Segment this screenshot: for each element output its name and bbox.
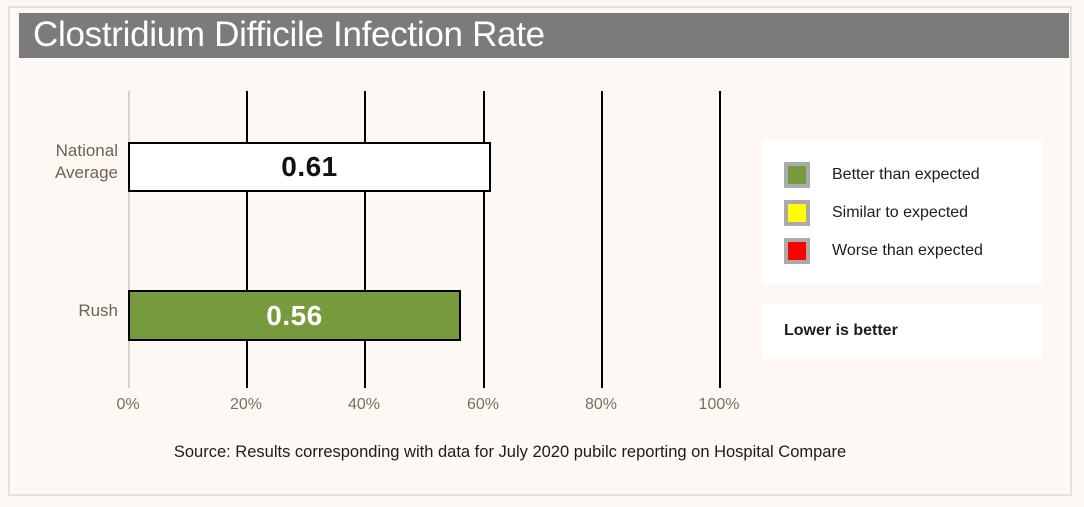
legend-label: Worse than expected: [832, 242, 983, 260]
legend-item-similar-to-expected: Similar to expected: [784, 194, 1042, 232]
gridline-80: [601, 91, 603, 388]
gridline-60: [483, 91, 485, 388]
bar-value-label: 0.61: [281, 151, 338, 183]
title-banner: Clostridium Difficile Infection Rate: [19, 13, 1069, 58]
x-axis-tick-labels: 0% 20% 40% 60% 80% 100%: [128, 396, 720, 420]
x-tick-60: 60%: [467, 396, 499, 414]
bar-value-label: 0.56: [266, 300, 323, 332]
category-label-line1: National: [56, 141, 118, 160]
legend-item-worse-than-expected: Worse than expected: [784, 232, 1042, 270]
legend-item-better-than-expected: Better than expected: [784, 156, 1042, 194]
plot-area: 0.61 0.56: [128, 91, 720, 388]
x-tick-0: 0%: [116, 396, 139, 414]
bar-national-average[interactable]: 0.61: [128, 142, 491, 192]
category-label-national-average: National Average: [18, 140, 118, 184]
bar-rush[interactable]: 0.56: [128, 290, 461, 341]
gridline-0: [128, 91, 130, 388]
legend-swatch-red-icon: [784, 238, 810, 264]
legend-swatch-yellow-icon: [784, 200, 810, 226]
category-label-line1: Rush: [78, 301, 118, 320]
interpretation-note-text: Lower is better: [784, 322, 898, 340]
interpretation-note-box: Lower is better: [762, 303, 1042, 359]
category-label-line2: Average: [55, 163, 118, 182]
x-tick-40: 40%: [348, 396, 380, 414]
gridline-100: [719, 91, 721, 388]
x-tick-20: 20%: [230, 396, 262, 414]
category-label-rush: Rush: [18, 300, 118, 322]
legend-label: Similar to expected: [832, 204, 968, 222]
x-tick-100: 100%: [699, 396, 740, 414]
category-axis-labels: National Average Rush: [0, 91, 118, 388]
gridline-20: [246, 91, 248, 388]
gridline-40: [364, 91, 366, 388]
legend-label: Better than expected: [832, 166, 980, 184]
legend: Better than expected Similar to expected…: [762, 140, 1042, 284]
chart-container: Clostridium Difficile Infection Rate Nat…: [0, 0, 1084, 507]
x-tick-80: 80%: [585, 396, 617, 414]
source-note: Source: Results corresponding with data …: [60, 443, 960, 462]
page-title: Clostridium Difficile Infection Rate: [33, 15, 545, 55]
legend-swatch-green-icon: [784, 162, 810, 188]
